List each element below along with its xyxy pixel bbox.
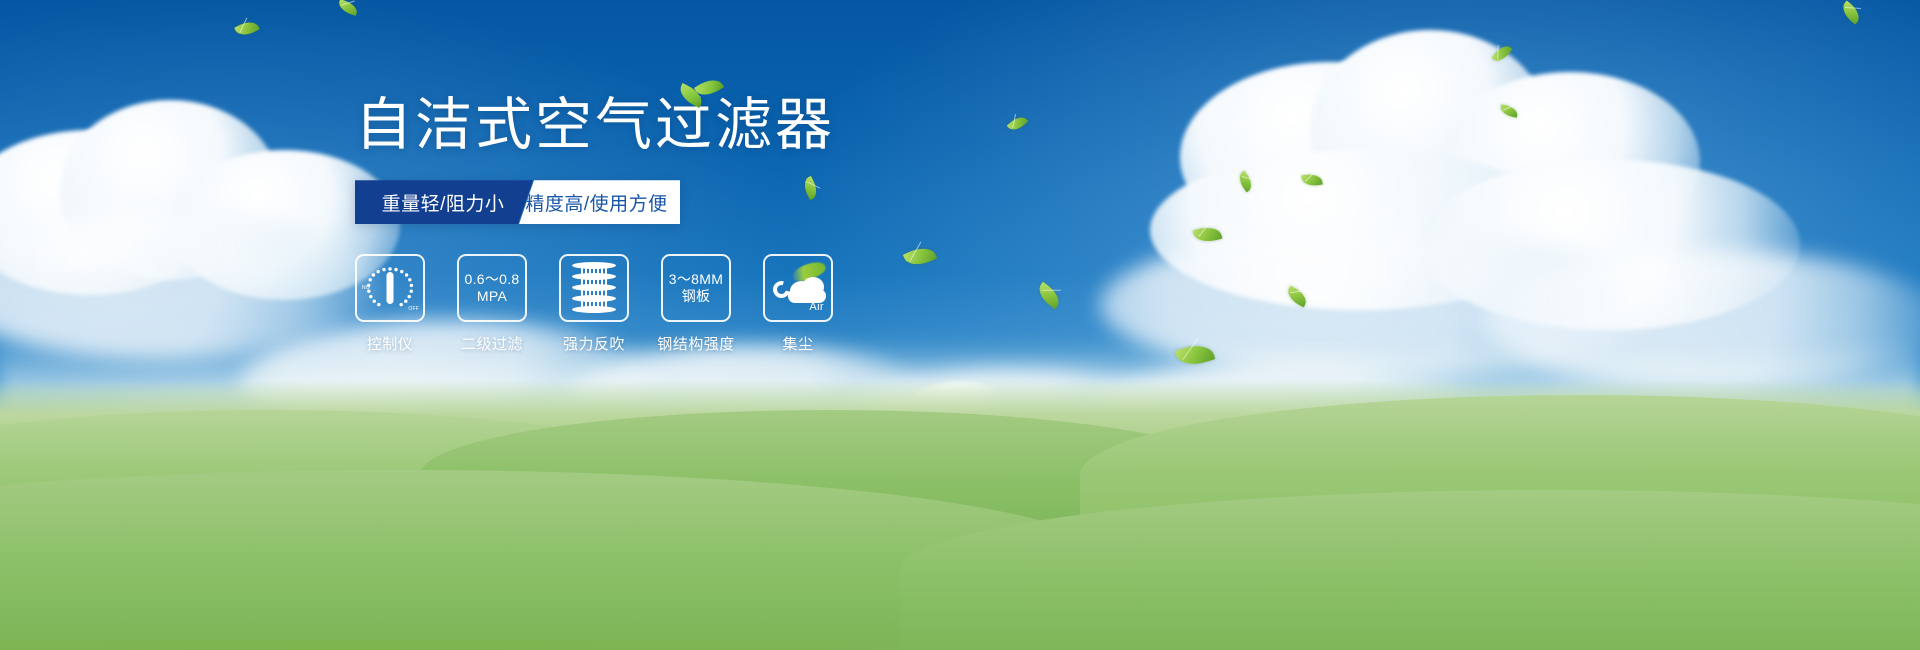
tagline-secondary: 精度高/使用方便 <box>519 180 680 224</box>
cartridge-disc <box>572 295 616 302</box>
feature-icon-box: 3～8MM 钢板 <box>661 254 731 322</box>
feature-item-dust[interactable]: Air 集尘 <box>763 254 833 354</box>
air-cloud-icon: Air <box>770 267 826 309</box>
feature-item-controller[interactable]: NO OFF 控制仪 <box>355 254 425 354</box>
steel-thickness: 3～8MM <box>669 271 723 289</box>
feature-item-steel-plate[interactable]: 3～8MM 钢板 钢结构强度 <box>661 254 731 354</box>
dial-control-icon: NO OFF <box>364 263 416 313</box>
air-label: Air <box>809 301 824 313</box>
filter-cartridge-icon <box>572 262 616 314</box>
grass-field <box>0 380 1920 650</box>
banner-content: 自洁式空气过滤器 重量轻/阻力小 精度高/使用方便 <box>355 96 995 354</box>
feature-caption: 二级过滤 <box>457 333 527 354</box>
pressure-value: 0.6～0.8 <box>464 271 519 289</box>
feature-icon-box <box>559 254 629 322</box>
cartridge-disc <box>572 262 616 269</box>
page-title: 自洁式空气过滤器 <box>355 96 995 155</box>
cartridge-disc <box>572 306 616 313</box>
cartridge-disc <box>572 273 616 280</box>
feature-caption: 集尘 <box>763 333 833 354</box>
feature-item-two-stage[interactable]: 0.6～0.8 MPA 二级过滤 <box>457 254 527 354</box>
title-leaf-decoration <box>678 78 732 112</box>
dial-label-on: NO <box>362 285 370 291</box>
steel-material: 钢板 <box>682 288 711 306</box>
cartridge-disc <box>572 284 616 291</box>
feature-caption: 控制仪 <box>355 333 425 354</box>
tagline-primary: 重量轻/阻力小 <box>355 180 533 224</box>
product-banner: 自洁式空气过滤器 重量轻/阻力小 精度高/使用方便 <box>0 0 1920 650</box>
feature-icon-box: 0.6～0.8 MPA <box>457 254 527 322</box>
feature-caption: 钢结构强度 <box>645 333 747 354</box>
dial-pointer <box>387 272 394 304</box>
tagline-badge: 重量轻/阻力小 精度高/使用方便 <box>355 180 680 224</box>
feature-caption: 强力反吹 <box>559 333 629 354</box>
feature-item-backblow[interactable]: 强力反吹 <box>559 254 629 354</box>
pressure-unit: MPA <box>477 288 507 306</box>
feature-icon-box: NO OFF <box>355 254 425 322</box>
dial-label-off: OFF <box>408 306 419 312</box>
feature-icon-box: Air <box>763 254 833 322</box>
feature-list: NO OFF 控制仪 0.6～0.8 MPA 二级过滤 <box>355 254 995 354</box>
